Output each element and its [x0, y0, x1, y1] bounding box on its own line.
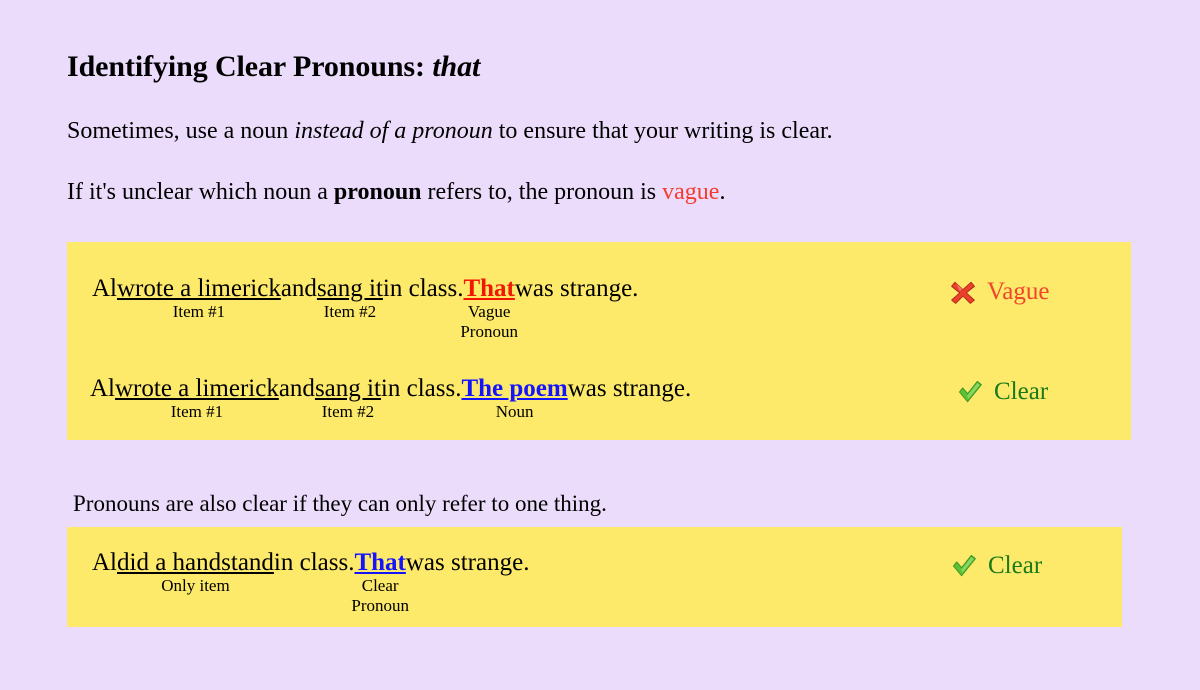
sentence-tail: in class. [383, 276, 464, 301]
example-row: Al did a handstandOnly item in class. Th… [92, 550, 529, 575]
sentence-item-2: sang itItem #2 [317, 276, 383, 301]
annotation-keyword-line-1: Noun [496, 402, 534, 421]
annotation-item-2: Item #2 [324, 302, 376, 322]
annotation-item-1: Item #1 [171, 402, 223, 422]
example-sentence: Al did a handstandOnly item in class. Th… [92, 550, 529, 575]
intro-line-1-emphasis: instead of a pronoun [294, 118, 492, 144]
intro-line-2: If it's unclear which noun a pronoun ref… [67, 179, 725, 206]
sentence-item-1: did a handstandOnly item [117, 550, 274, 575]
intro-line-1-part-a: Sometimes, use a noun [67, 118, 294, 144]
verdict-badge: Clear [957, 378, 1048, 406]
sentence-keyword: The poemNoun [461, 376, 567, 401]
intro-line-2-period: . [719, 179, 725, 205]
sentence-subject: Al [90, 376, 115, 401]
intro-line-2-vague-word: vague [662, 179, 719, 205]
annotation-item-1: Item #1 [173, 302, 225, 322]
example-row: Al wrote a limerickItem #1 and sang itIt… [90, 376, 691, 401]
sentence-conjunction: and [279, 376, 315, 401]
annotation-keyword-line-1: Clear [362, 576, 399, 595]
sentence-keyword: ThatVaguePronoun [463, 276, 514, 301]
example-row: Al wrote a limerickItem #1 and sang itIt… [92, 276, 638, 301]
sentence-tail: in class. [274, 550, 355, 575]
annotation-keyword: VaguePronoun [460, 302, 518, 342]
page-title-text: Identifying Clear Pronouns: [67, 50, 425, 83]
sentence-item-2-text: sang it [315, 375, 381, 402]
annotation-keyword-line-1: Vague [468, 302, 510, 321]
sentence-keyword-text: That [463, 275, 514, 302]
verdict-label: Vague [987, 278, 1049, 306]
sentence-conjunction: and [281, 276, 317, 301]
intro-line-1-part-b: to ensure that your writing is clear. [493, 118, 833, 144]
sentence-subject: Al [92, 550, 117, 575]
sentence-item-2-text: sang it [317, 275, 383, 302]
sentence-ending: was strange. [515, 276, 639, 301]
page-title: Identifying Clear Pronouns: that [67, 50, 480, 84]
cross-mark-icon [950, 279, 976, 305]
intro-line-2-part-a: If it's unclear which noun a [67, 179, 334, 205]
page-title-keyword: that [432, 50, 480, 83]
check-mark-icon [951, 553, 977, 579]
annotation-keyword-line-2: Pronoun [351, 596, 409, 616]
sentence-item-2: sang itItem #2 [315, 376, 381, 401]
sentence-tail: in class. [381, 376, 462, 401]
sentence-subject: Al [92, 276, 117, 301]
annotation-item-1: Only item [161, 576, 229, 596]
verdict-label: Clear [994, 378, 1048, 406]
sentence-keyword: ThatClearPronoun [354, 550, 405, 575]
annotation-keyword-line-2: Pronoun [460, 322, 518, 342]
sentence-ending: was strange. [406, 550, 530, 575]
verdict-badge: Clear [951, 552, 1042, 580]
sentence-keyword-text: That [354, 549, 405, 576]
annotation-item-2: Item #2 [322, 402, 374, 422]
sentence-item-1-text: did a handstand [117, 549, 274, 576]
example-sentence: Al wrote a limerickItem #1 and sang itIt… [90, 376, 691, 401]
verdict-label: Clear [988, 552, 1042, 580]
annotation-keyword: ClearPronoun [351, 576, 409, 616]
sentence-keyword-text: The poem [461, 375, 567, 402]
annotation-keyword: Noun [496, 402, 534, 422]
intro-line-2-part-b: refers to, the pronoun is [422, 179, 663, 205]
verdict-badge: Vague [950, 278, 1049, 306]
sentence-item-1-text: wrote a limerick [115, 375, 279, 402]
intro-line-2-bold: pronoun [334, 179, 422, 205]
example-sentence: Al wrote a limerickItem #1 and sang itIt… [92, 276, 638, 301]
sentence-item-1-text: wrote a limerick [117, 275, 281, 302]
middle-note: Pronouns are also clear if they can only… [73, 491, 607, 517]
intro-line-1: Sometimes, use a noun instead of a prono… [67, 118, 833, 145]
sentence-item-1: wrote a limerickItem #1 [115, 376, 279, 401]
check-mark-icon [957, 379, 983, 405]
example-panel-top [67, 242, 1131, 440]
sentence-ending: was strange. [568, 376, 692, 401]
sentence-item-1: wrote a limerickItem #1 [117, 276, 281, 301]
